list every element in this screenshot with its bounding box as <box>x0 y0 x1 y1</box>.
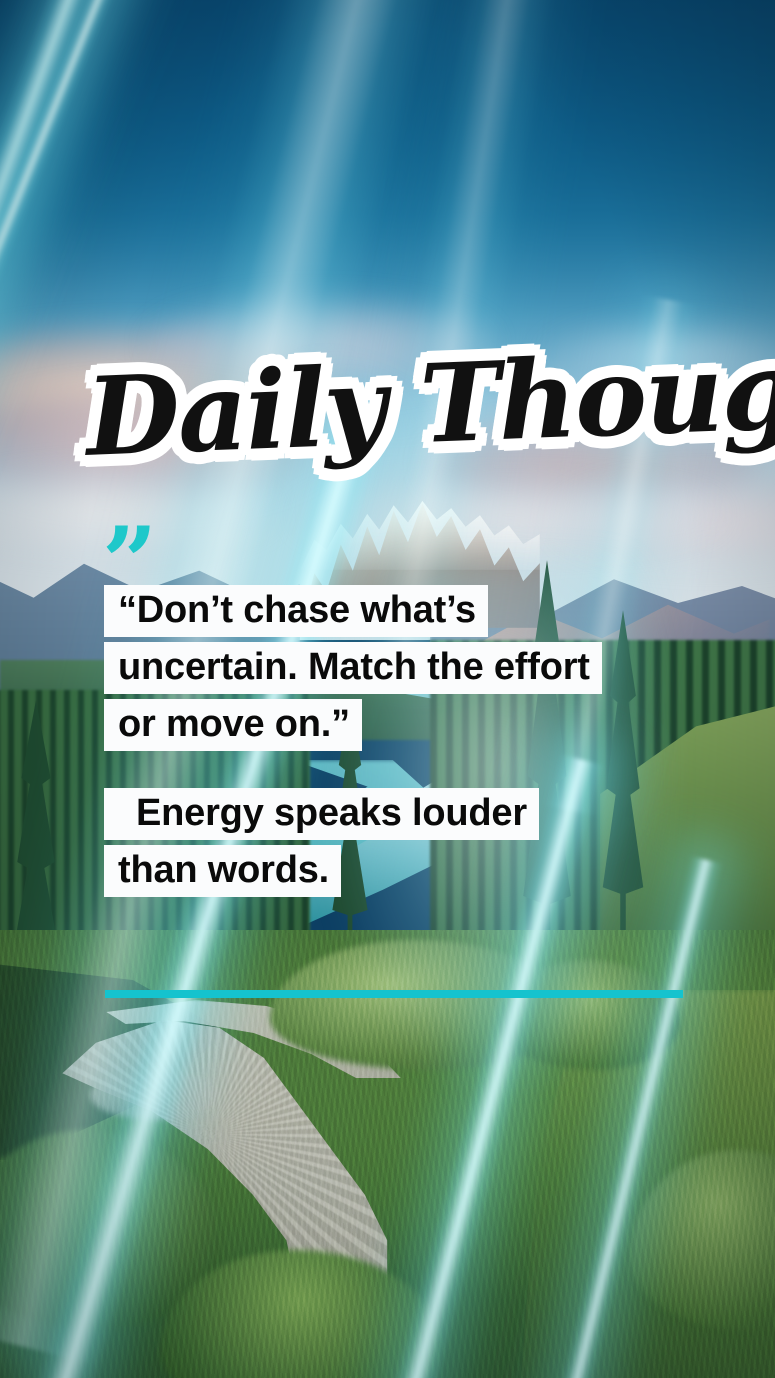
poster-content: Daily Thought ” “Don’t chase what’s unce… <box>0 0 775 1378</box>
quote-line: “Don’t chase what’s <box>104 585 488 637</box>
daily-thought-poster: Daily Thought ” “Don’t chase what’s unce… <box>0 0 775 1378</box>
subtext-block: Energy speaks louder than words. <box>104 788 539 902</box>
subtext-line: Energy speaks louder <box>104 788 539 840</box>
quote-line: or move on.” <box>104 699 362 751</box>
page-title: Daily Thought <box>84 340 708 472</box>
quote-text-block: “Don’t chase what’s uncertain. Match the… <box>104 585 602 756</box>
accent-divider <box>105 990 683 998</box>
quote-line: uncertain. Match the effort <box>104 642 602 694</box>
subtext-line: than words. <box>104 845 341 897</box>
